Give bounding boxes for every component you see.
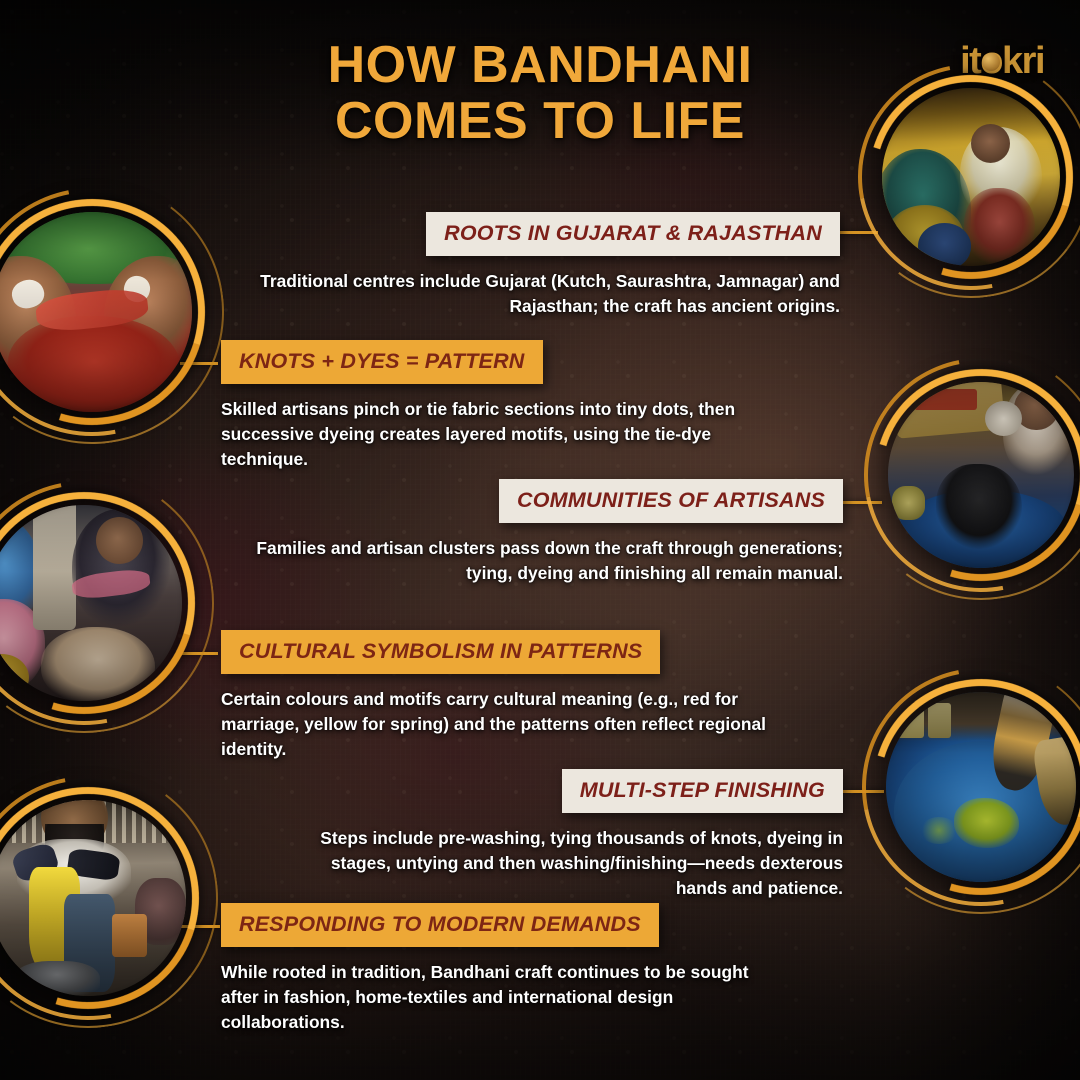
photo-women-tying-yellow-image [882,88,1060,266]
connector-line-roots [838,231,878,234]
section-symbolism: CULTURAL SYMBOLISM IN PATTERNS Certain c… [221,630,781,762]
photo-dyer-yellow-cloth [0,800,186,996]
photo-dyer-blue-tub-disc [888,382,1074,568]
section-roots: ROOTS IN GUJARAT & RAJASTHAN Traditional… [255,212,840,319]
section-knots-dyes: KNOTS + DYES = PATTERN Skilled artisans … [221,340,781,472]
section-roots-badge: ROOTS IN GUJARAT & RAJASTHAN [426,212,840,256]
photo-women-knotting-disc [0,505,182,701]
photo-hands-tying-red-disc [0,212,192,412]
section-modern-demands: RESPONDING TO MODERN DEMANDS While roote… [221,903,791,1035]
connector-line-communities [840,501,882,504]
section-finishing-badge: MULTI-STEP FINISHING [562,769,843,813]
photo-indigo-vat [886,692,1076,882]
section-roots-body: Traditional centres include Gujarat (Kut… [255,269,840,319]
section-knots-dyes-body: Skilled artisans pinch or tie fabric sec… [221,397,781,472]
section-communities-badge: COMMUNITIES OF ARTISANS [499,479,843,523]
photo-hands-tying-red [0,212,192,412]
photo-indigo-vat-disc [886,692,1076,882]
photo-women-knotting [0,505,182,701]
connector-line-symbolism [176,652,218,655]
photo-indigo-vat-image [886,692,1076,882]
section-modern-demands-badge: RESPONDING TO MODERN DEMANDS [221,903,659,947]
section-knots-dyes-badge: KNOTS + DYES = PATTERN [221,340,543,384]
brand-logo-text: itokri [960,40,1044,82]
connector-line-finishing [842,790,884,793]
section-finishing-body: Steps include pre-washing, tying thousan… [305,826,843,901]
photo-dyer-blue-tub-image [888,382,1074,568]
section-finishing: MULTI-STEP FINISHING Steps include pre-w… [305,769,843,901]
section-symbolism-body: Certain colours and motifs carry cultura… [221,687,781,762]
section-communities-body: Families and artisan clusters pass down … [240,536,843,586]
photo-women-tying-yellow [882,88,1060,266]
brand-logo[interactable]: itokri [960,40,1044,83]
section-communities: COMMUNITIES OF ARTISANS Families and art… [240,479,843,586]
photo-dyer-yellow-cloth-image [0,800,186,996]
section-symbolism-badge: CULTURAL SYMBOLISM IN PATTERNS [221,630,660,674]
photo-dyer-yellow-cloth-disc [0,800,186,996]
photo-women-knotting-image [0,505,182,701]
photo-hands-tying-red-image [0,212,192,412]
section-modern-demands-body: While rooted in tradition, Bandhani craf… [221,960,791,1035]
photo-dyer-blue-tub [888,382,1074,568]
photo-women-tying-yellow-disc [882,88,1060,266]
